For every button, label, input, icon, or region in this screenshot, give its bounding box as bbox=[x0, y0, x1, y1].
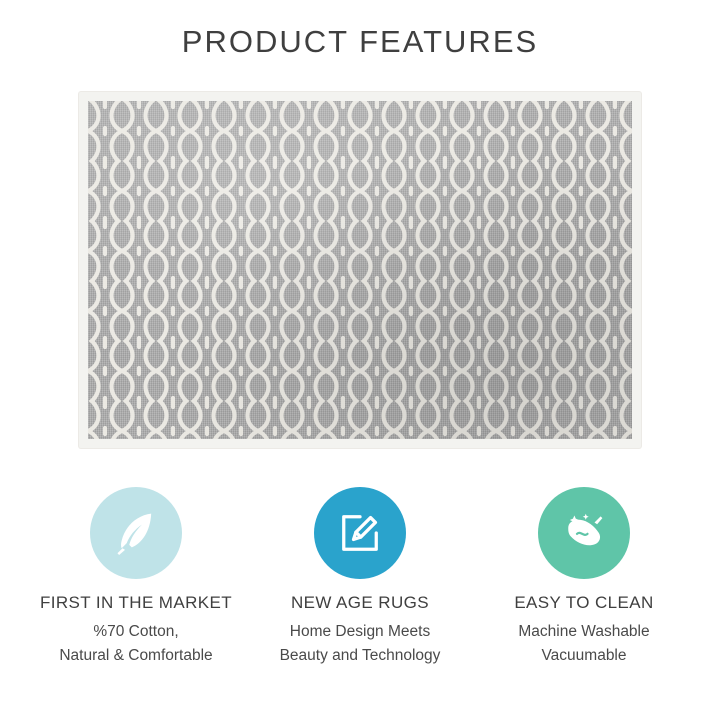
product-image bbox=[79, 92, 641, 448]
design-pen-ruler-icon bbox=[334, 507, 386, 559]
feature-line: Home Design Meets bbox=[248, 620, 472, 644]
feature-title: EASY TO CLEAN bbox=[472, 593, 696, 613]
rug-field bbox=[88, 101, 632, 439]
feature-badge bbox=[538, 487, 630, 579]
feature-line: Natural & Comfortable bbox=[24, 644, 248, 668]
feature-badge bbox=[314, 487, 406, 579]
feature-line: Beauty and Technology bbox=[248, 644, 472, 668]
feather-icon bbox=[109, 506, 163, 560]
feature-title: NEW AGE RUGS bbox=[248, 593, 472, 613]
feature-line: %70 Cotton, bbox=[24, 620, 248, 644]
washing-sparkle-icon bbox=[556, 505, 612, 561]
feature-new-age-rugs: NEW AGE RUGS Home Design Meets Beauty an… bbox=[248, 487, 472, 668]
feature-badge bbox=[90, 487, 182, 579]
features-row: FIRST IN THE MARKET %70 Cotton, Natural … bbox=[0, 487, 720, 668]
feature-first-in-the-market: FIRST IN THE MARKET %70 Cotton, Natural … bbox=[24, 487, 248, 668]
feature-line: Machine Washable bbox=[472, 620, 696, 644]
feature-title: FIRST IN THE MARKET bbox=[24, 593, 248, 613]
feature-easy-to-clean: EASY TO CLEAN Machine Washable Vacuumabl… bbox=[472, 487, 696, 668]
product-features-page: PRODUCT FEATURES bbox=[0, 0, 720, 720]
rug-trellis-pattern bbox=[88, 101, 632, 439]
page-title: PRODUCT FEATURES bbox=[0, 24, 720, 60]
feature-line: Vacuumable bbox=[472, 644, 696, 668]
